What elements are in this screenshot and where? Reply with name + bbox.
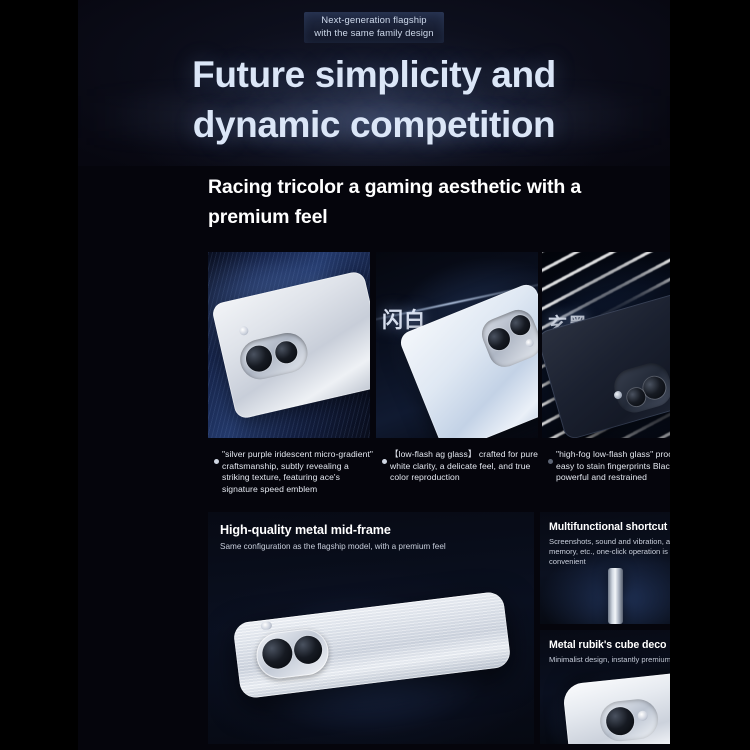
caption-3: "high-fog low-flash glass" process, not …	[556, 449, 670, 484]
caption-row: "silver purple iridescent micro-gradient…	[208, 449, 670, 511]
hero-banner: Next-generation flagship with the same f…	[78, 0, 670, 166]
card-rt-shortcut-key	[608, 568, 623, 624]
card-rt-title: Multifunctional shortcut keys	[549, 521, 670, 533]
hero-headline-line2: dynamic competition	[78, 100, 670, 150]
promo-page: Next-generation flagship with the same f…	[0, 0, 750, 750]
card-shortcut-keys[interactable]: Multifunctional shortcut keys Screenshot…	[540, 512, 670, 624]
tile1-flash-icon	[238, 325, 249, 336]
card-rb-title: Metal rubik's cube deco	[549, 639, 666, 651]
product-tile-ag-glass[interactable]: 闪白	[376, 252, 538, 438]
caption-1: "silver purple iridescent micro-gradient…	[222, 449, 374, 495]
card-metal-mid-frame[interactable]: High-quality metal mid-frame Same config…	[208, 512, 534, 744]
product-tile-high-fog-glass[interactable]: 玄墨	[542, 252, 670, 438]
hero-headline-line1: Future simplicity and	[78, 50, 670, 100]
caption-bullet-icon-2	[382, 459, 387, 464]
hero-headline: Future simplicity and dynamic competitio…	[78, 50, 670, 150]
card-left-subtitle: Same configuration as the flagship model…	[220, 541, 446, 552]
card-rt-subtitle: Screenshots, sound and vibration, ai fla…	[549, 537, 670, 567]
hero-eyebrow-line1: Next-generation flagship	[321, 15, 426, 26]
hero-eyebrow-badge: Next-generation flagship with the same f…	[304, 12, 443, 43]
section-heading-line1: Racing tricolor a gaming aesthetic with …	[208, 172, 670, 202]
hero-eyebrow-line2: with the same family design	[314, 27, 433, 40]
section-heading-line2: premium feel	[208, 202, 670, 232]
hero-eyebrow: Next-generation flagship with the same f…	[78, 12, 670, 43]
product-tile-silver-purple[interactable]: 快银	[208, 252, 370, 438]
content-panel: Next-generation flagship with the same f…	[78, 0, 670, 750]
card-rubiks-cube-deco[interactable]: Metal rubik's cube deco Minimalist desig…	[540, 630, 670, 744]
section-heading: Racing tricolor a gaming aesthetic with …	[208, 172, 670, 232]
caption-bullet-icon-3	[548, 459, 553, 464]
caption-bullet-icon-1	[214, 459, 219, 464]
card-rb-subtitle: Minimalist design, instantly premium	[549, 655, 670, 665]
card-left-title: High-quality metal mid-frame	[220, 523, 391, 537]
caption-2: 【low-flash ag glass】 crafted for pure wh…	[390, 449, 542, 484]
product-image-row: 快银 闪白	[208, 252, 670, 438]
